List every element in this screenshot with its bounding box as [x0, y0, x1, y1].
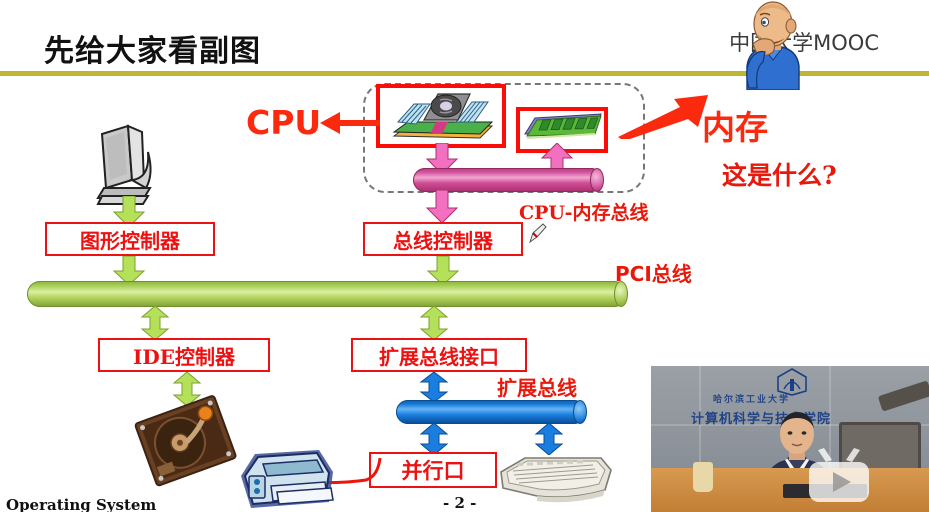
video-banner-top: 哈尔滨工业大学: [713, 392, 790, 405]
slide-canvas: 先给大家看副图 中国大学MOOC: [0, 0, 929, 512]
play-button[interactable]: [806, 448, 872, 504]
thinking-man-icon: [729, 0, 809, 90]
page-title: 先给大家看副图: [44, 26, 261, 70]
graphics-controller-box[interactable]: 图形控制器: [45, 222, 215, 256]
lecture-video-thumbnail[interactable]: 哈尔滨工业大学 计算机科学与技术学院: [651, 366, 929, 512]
bus-end-cap: [614, 281, 628, 307]
pci-to-ide-arrow: [140, 306, 170, 340]
keyboard-icon: [497, 452, 615, 504]
cpu-pointer-arrow: [318, 110, 380, 136]
expbus-to-parallel-arrow: [419, 423, 449, 455]
interface-to-expbus-arrow: [419, 372, 449, 402]
expansion-bus-interface-box[interactable]: 扩展总线接口: [351, 338, 527, 372]
video-cup: [693, 462, 713, 492]
printer-icon: [233, 446, 341, 512]
cpu-highlight-box: [376, 84, 506, 148]
question-label: 这是什么?: [722, 156, 837, 192]
expbus-to-keyboard-arrow: [534, 423, 564, 455]
pci-bus: [27, 281, 627, 307]
bus-end-cap: [573, 400, 587, 424]
pci-to-expansion-arrow: [419, 306, 449, 340]
bus-end-cap: [590, 168, 604, 192]
bus-to-controller-arrow: [425, 190, 459, 224]
expansion-bus-label: 扩展总线: [497, 372, 577, 401]
memory-pointer-arrow: [618, 95, 712, 139]
cpu-label: CPU: [246, 103, 321, 142]
memory-label: 内存: [702, 101, 768, 149]
ide-controller-box[interactable]: IDE控制器: [98, 338, 270, 372]
pen-cursor-icon: [528, 222, 548, 244]
cpu-memory-bus-label: CPU-内存总线: [519, 198, 649, 225]
pci-bus-label: PCI总线: [615, 258, 692, 287]
mooc-watermark: 中国大学MOOC: [735, 0, 925, 90]
page-number: - 2 -: [443, 494, 476, 512]
expansion-bus: [396, 400, 586, 424]
hard-disk-icon: [130, 392, 240, 492]
footer-left-text: Operating System: [6, 496, 156, 512]
bus-controller-box[interactable]: 总线控制器: [363, 222, 523, 256]
cpu-memory-bus: [413, 168, 603, 192]
